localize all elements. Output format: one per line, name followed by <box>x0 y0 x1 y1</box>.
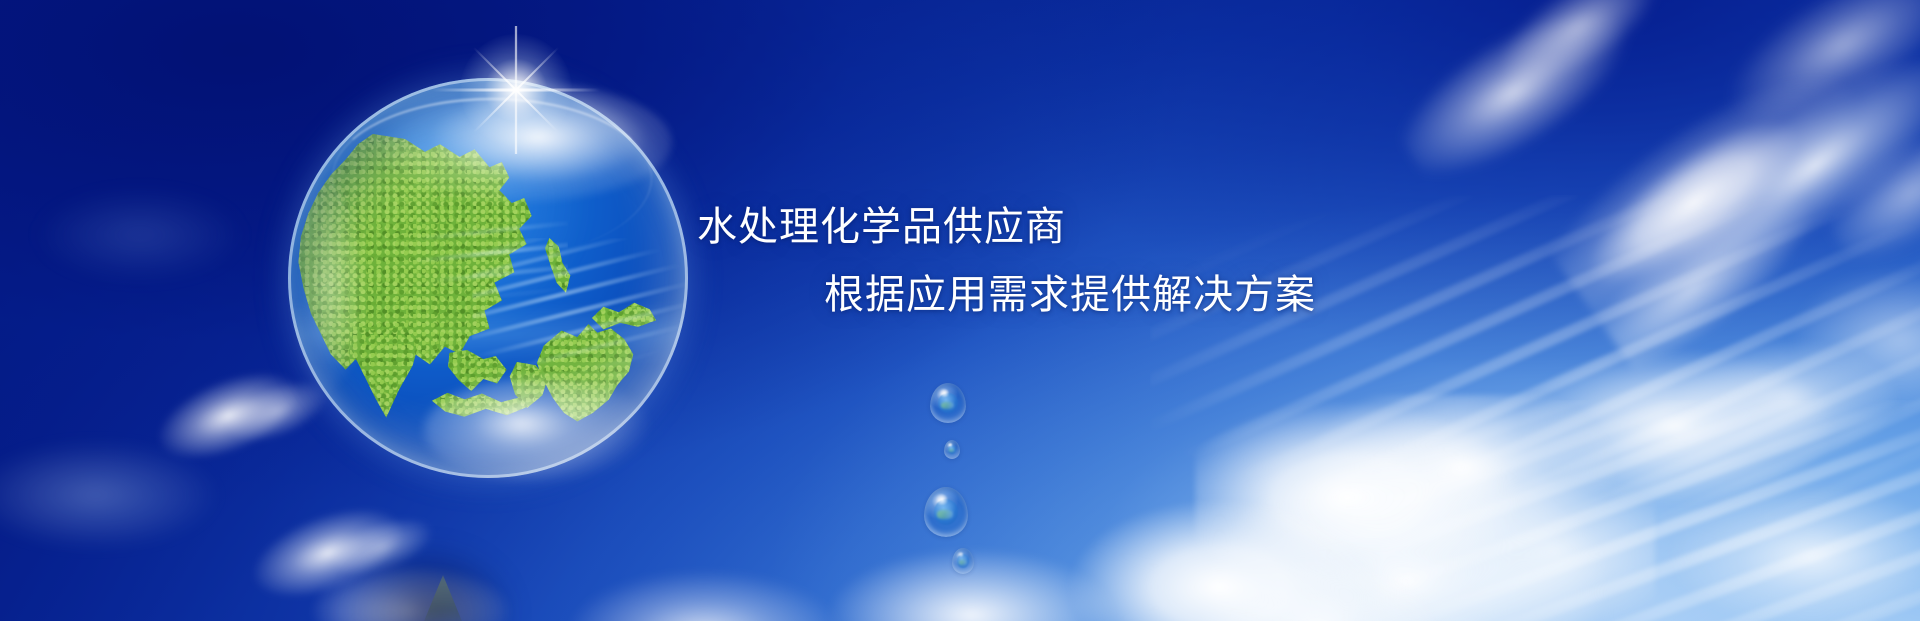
water-droplet-bottom <box>952 548 974 574</box>
globe-water-splash-alt <box>408 210 568 298</box>
headline-line-1: 水处理化学品供应商 <box>697 193 1397 261</box>
hero-banner: 水处理化学品供应商 根据应用需求提供解决方案 <box>0 0 1920 621</box>
green-earth-globe <box>288 78 688 478</box>
dark-silhouette-shadow <box>330 519 520 621</box>
water-droplet-large-lower <box>924 487 968 537</box>
water-droplet-large-upper <box>930 383 966 423</box>
water-droplet-small <box>944 440 960 459</box>
droplet-specular-highlight <box>948 443 953 447</box>
headline-line-2: 根据应用需求提供解决方案 <box>697 261 1397 329</box>
droplet-specular-highlight <box>935 494 948 505</box>
continent-indonesia <box>432 390 528 426</box>
continent-india <box>344 326 432 430</box>
banner-headline: 水处理化学品供应商 根据应用需求提供解决方案 <box>697 193 1397 329</box>
globe-sphere <box>288 78 688 478</box>
